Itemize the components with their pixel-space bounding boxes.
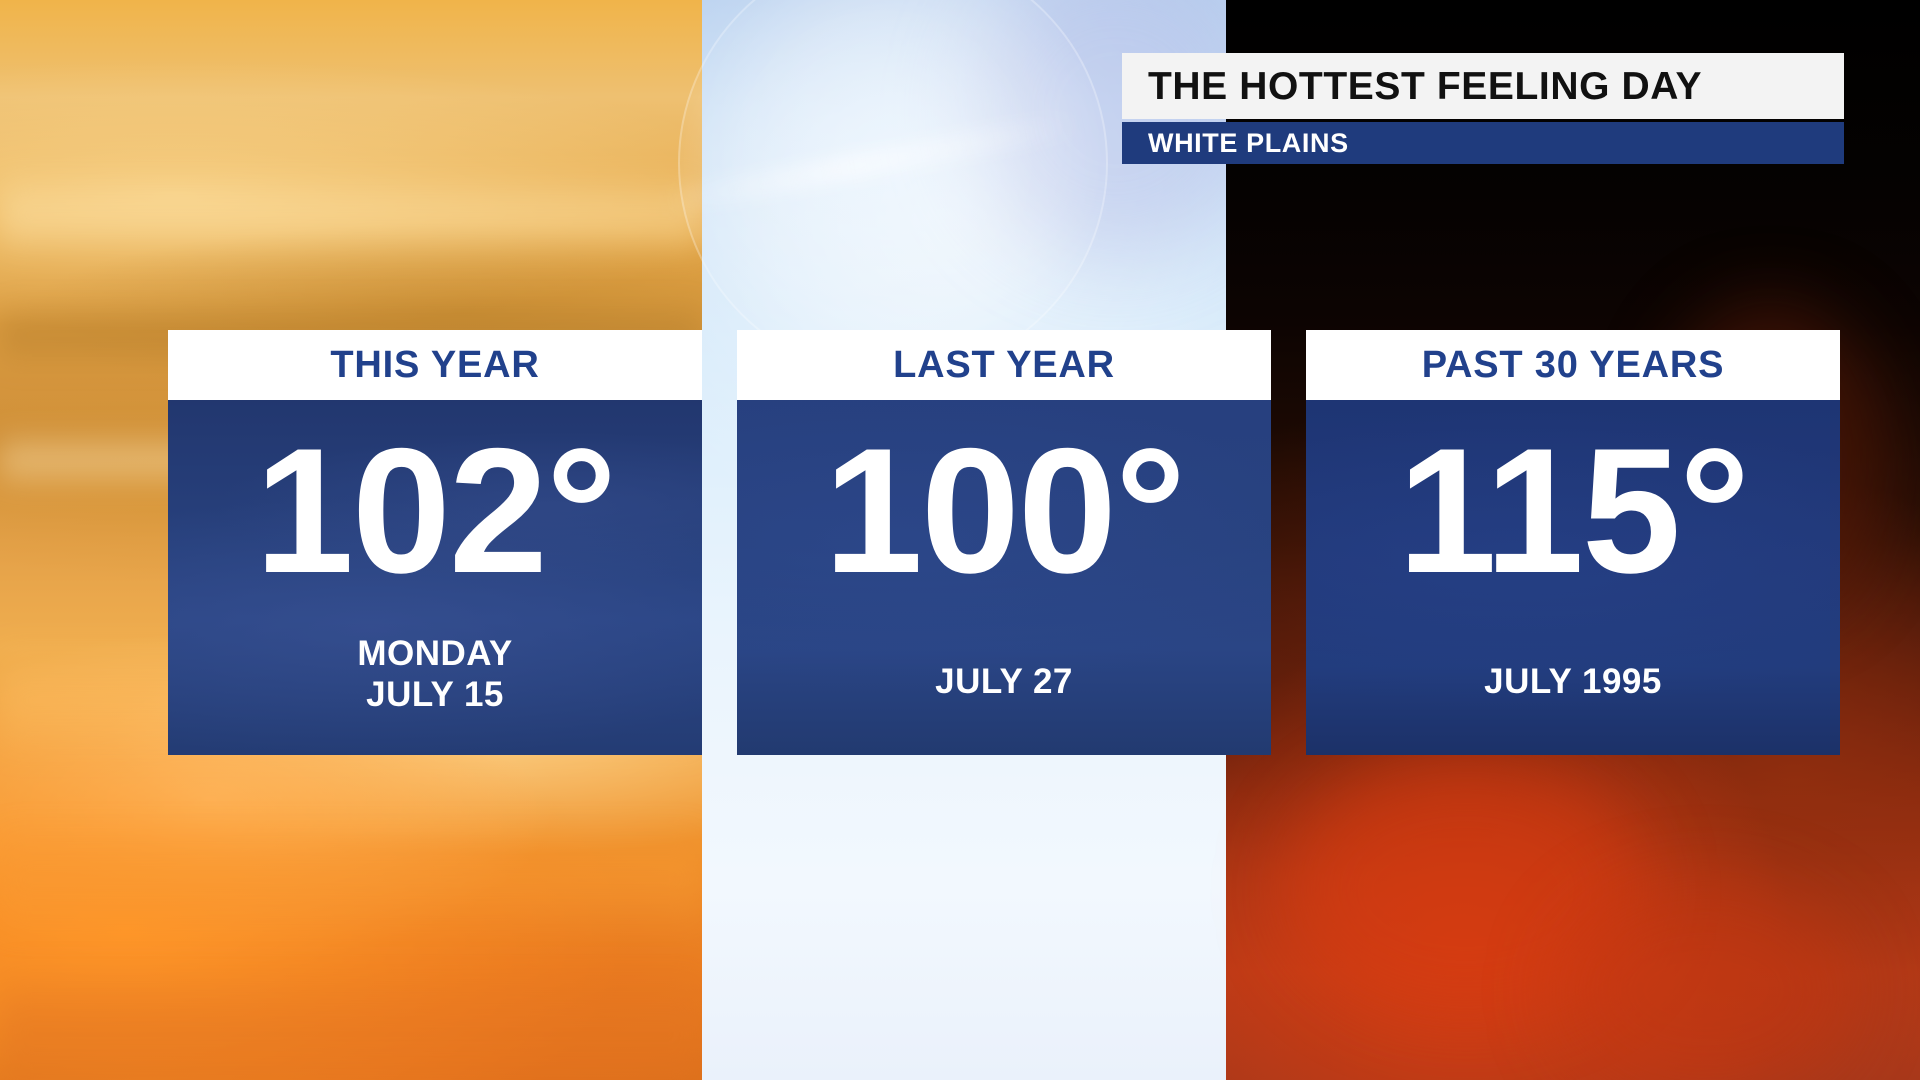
panel-header-last-year: LAST YEAR xyxy=(737,330,1271,400)
temperature-value: 115° xyxy=(1398,422,1748,600)
panel-body-this-year: 102° MONDAY JULY 15 xyxy=(168,400,702,755)
panel-header-this-year: THIS YEAR xyxy=(168,330,702,400)
temperature-value: 102° xyxy=(255,422,615,600)
weather-graphic: THE HOTTEST FEELING DAY WHITE PLAINS THI… xyxy=(0,0,1920,1080)
date-label: JULY 27 xyxy=(935,662,1073,703)
temperature-value: 100° xyxy=(824,422,1184,600)
panel-body-last-year: 100° JULY 27 xyxy=(737,400,1271,755)
panel-heading-label: THIS YEAR xyxy=(330,346,539,384)
location-bar: WHITE PLAINS xyxy=(1122,122,1844,164)
panel-last-year: LAST YEAR 100° JULY 27 xyxy=(737,330,1271,755)
panel-body-past-30-years: 115° JULY 1995 xyxy=(1306,400,1840,755)
headline-text: THE HOTTEST FEELING DAY xyxy=(1148,67,1702,106)
panel-heading-label: PAST 30 YEARS xyxy=(1422,346,1725,384)
panel-header-past-30-years: PAST 30 YEARS xyxy=(1306,330,1840,400)
panel-this-year: THIS YEAR 102° MONDAY JULY 15 xyxy=(168,330,702,755)
location-text: WHITE PLAINS xyxy=(1148,130,1349,157)
panel-heading-label: LAST YEAR xyxy=(893,346,1115,384)
headline-bar: THE HOTTEST FEELING DAY xyxy=(1122,53,1844,119)
date-label: MONDAY JULY 15 xyxy=(357,634,512,715)
comparison-panels: THIS YEAR 102° MONDAY JULY 15 LAST YEAR … xyxy=(168,330,1840,755)
panel-past-30-years: PAST 30 YEARS 115° JULY 1995 xyxy=(1306,330,1840,755)
date-label: JULY 1995 xyxy=(1484,662,1662,703)
headline-block: THE HOTTEST FEELING DAY WHITE PLAINS xyxy=(1122,53,1844,164)
